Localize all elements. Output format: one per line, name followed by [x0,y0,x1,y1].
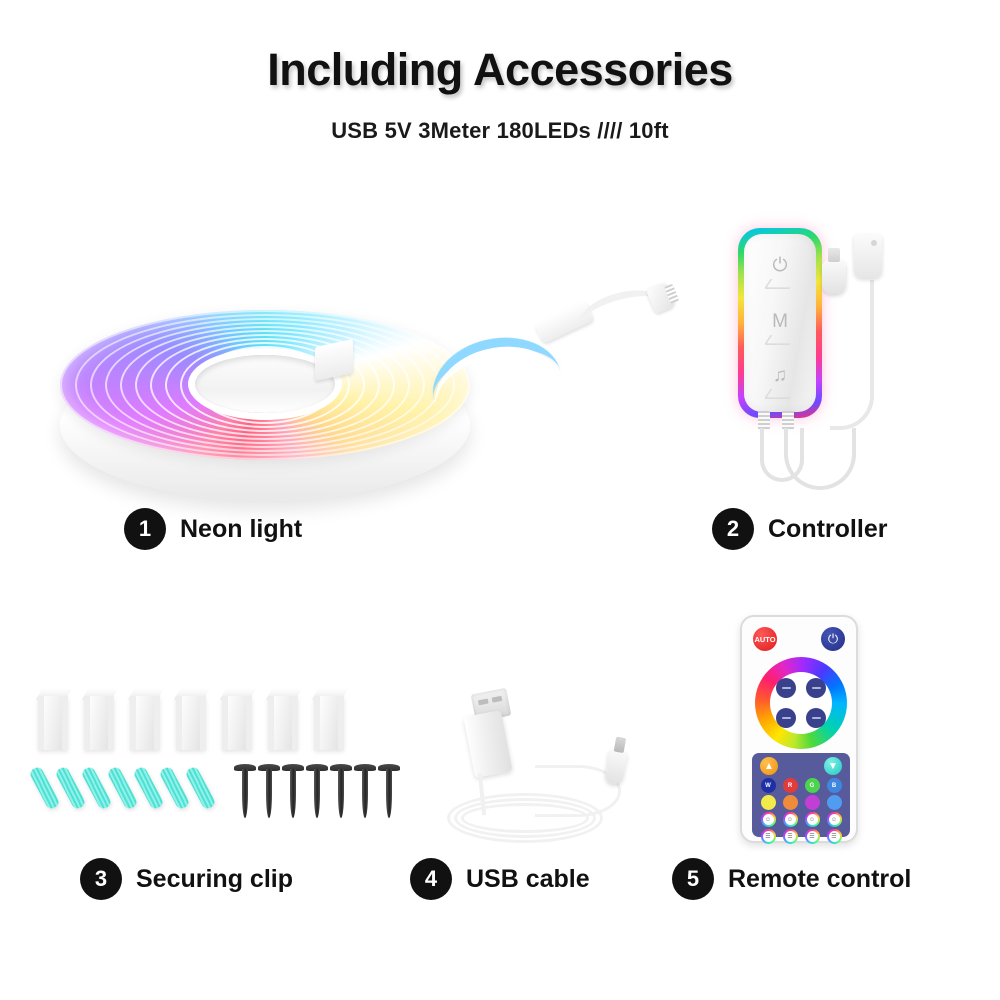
legend-item-2: 2 Controller [712,508,887,550]
product-infographic: Including Accessories USB 5V 3Meter 180L… [0,0,1000,1000]
screw [354,764,376,818]
brightness-down-button[interactable]: ▼ [824,757,842,775]
controller-body: ⏻ M ♫ [744,234,816,412]
clip-body [38,696,68,750]
chevron-down-icon [764,279,797,289]
music-note-icon: ♫ [773,366,787,386]
screw [330,764,352,818]
controller-mode-button[interactable]: M [744,312,816,352]
remote-color-key-0[interactable] [761,795,776,810]
usb-plug [822,260,846,294]
securing-clip-illustration [38,688,378,818]
dc-barrel-plug [604,749,628,786]
screw [258,764,280,818]
remote-button-grid: WRGB☺☺☺☺☰☰☰☰ [758,778,844,834]
legend-label-5: Remote control [728,865,911,894]
legend-item-4: 4 USB cable [410,858,590,900]
clip-body [84,696,114,750]
legend-item-3: 3 Securing clip [80,858,293,900]
badge-number-2: 2 [712,508,754,550]
remote-control-illustration: AUTO ⏻ ▲ ▼ WRGB☺☺☺☺☰☰☰☰ [740,615,864,850]
remote-channel-key-W[interactable]: W [761,778,776,793]
effect-icon: ☰ [785,831,796,842]
chevron-down-icon [764,335,797,345]
wheel-button-down-right[interactable] [806,708,826,728]
remote-keypad-panel: ▲ ▼ WRGB☺☺☺☺☰☰☰☰ [752,753,850,837]
legend-label-2: Controller [768,515,887,544]
neon-tail [428,285,668,405]
securing-clip [38,688,68,750]
remote-mode-key-0[interactable]: ☺ [761,812,776,827]
remote-body: AUTO ⏻ ▲ ▼ WRGB☺☺☺☺☰☰☰☰ [740,615,858,843]
legend-label-4: USB cable [466,865,590,894]
remote-color-key-1[interactable] [783,795,798,810]
screw-shaft [386,769,392,818]
remote-mode-key-3[interactable]: ☺ [827,812,842,827]
securing-clip [176,688,206,750]
securing-clip [268,688,298,750]
legend-item-1: 1 Neon light [124,508,302,550]
wheel-button-up-left[interactable] [776,678,796,698]
controller-output-lead [784,428,856,490]
remote-color-key-2[interactable] [805,795,820,810]
remote-effect-key-3[interactable]: ☰ [827,829,842,844]
tail-strip-housing [425,334,565,420]
usb-cable-illustration [425,665,660,850]
mode-icon: M [772,312,788,332]
securing-clip [130,688,160,750]
page-title: Including Accessories [0,44,1000,96]
controller-usb-cable [830,280,874,430]
clip-body [314,696,344,750]
screw-shaft [242,769,248,818]
mode-icon: ☺ [807,814,818,825]
remote-mode-key-2[interactable]: ☺ [805,812,820,827]
usb-connector-shell [463,710,512,778]
screw [234,764,256,818]
clip-body [130,696,160,750]
chevron-down-icon [764,389,797,399]
badge-number-3: 3 [80,858,122,900]
power-icon: ⏻ [772,256,787,276]
remote-channel-key-G[interactable]: G [805,778,820,793]
clip-body [222,696,252,750]
screw [306,764,328,818]
securing-clip [84,688,114,750]
remote-effect-key-0[interactable]: ☰ [761,829,776,844]
color-wheel-center [770,672,832,734]
remote-channel-key-R[interactable]: R [783,778,798,793]
screw-shaft [362,769,368,818]
remote-channel-key-B[interactable]: B [827,778,842,793]
remote-auto-button[interactable]: AUTO [753,627,777,651]
mode-icon: ☺ [785,814,796,825]
coil-center-hole [195,355,335,413]
brightness-up-button[interactable]: ▲ [760,757,778,775]
controller-power-button[interactable]: ⏻ [744,256,816,296]
usb-receptacle [854,234,882,278]
page-subtitle: USB 5V 3Meter 180LEDs //// 10ft [0,118,1000,144]
mode-icon: ☺ [829,814,840,825]
remote-effect-key-2[interactable]: ☰ [805,829,820,844]
neon-light-illustration [30,255,710,495]
screw [282,764,304,818]
wheel-button-down-left[interactable] [776,708,796,728]
legend-label-1: Neon light [180,515,302,544]
legend-item-5: 5 Remote control [672,858,911,900]
remote-power-button[interactable]: ⏻ [821,627,845,651]
screw-shaft [266,769,272,818]
remote-effect-key-1[interactable]: ☰ [783,829,798,844]
remote-mode-key-1[interactable]: ☺ [783,812,798,827]
screw-shaft [314,769,320,818]
badge-number-5: 5 [672,858,714,900]
screw-shaft [290,769,296,818]
clip-body [176,696,206,750]
controller-music-button[interactable]: ♫ [744,366,816,406]
legend-label-3: Securing clip [136,865,293,894]
badge-number-4: 4 [410,858,452,900]
effect-icon: ☰ [763,831,774,842]
clip-body [268,696,298,750]
effect-icon: ☰ [807,831,818,842]
mode-icon: ☺ [763,814,774,825]
effect-icon: ☰ [829,831,840,842]
screw-shaft [338,769,344,818]
wall-anchor [184,766,216,811]
badge-number-1: 1 [124,508,166,550]
controller-illustration: ⏻ M ♫ [718,228,908,493]
remote-color-wheel[interactable] [755,657,847,749]
wheel-button-up-right[interactable] [806,678,826,698]
remote-color-key-3[interactable] [827,795,842,810]
screw [378,764,400,818]
securing-clip [314,688,344,750]
securing-clip [222,688,252,750]
